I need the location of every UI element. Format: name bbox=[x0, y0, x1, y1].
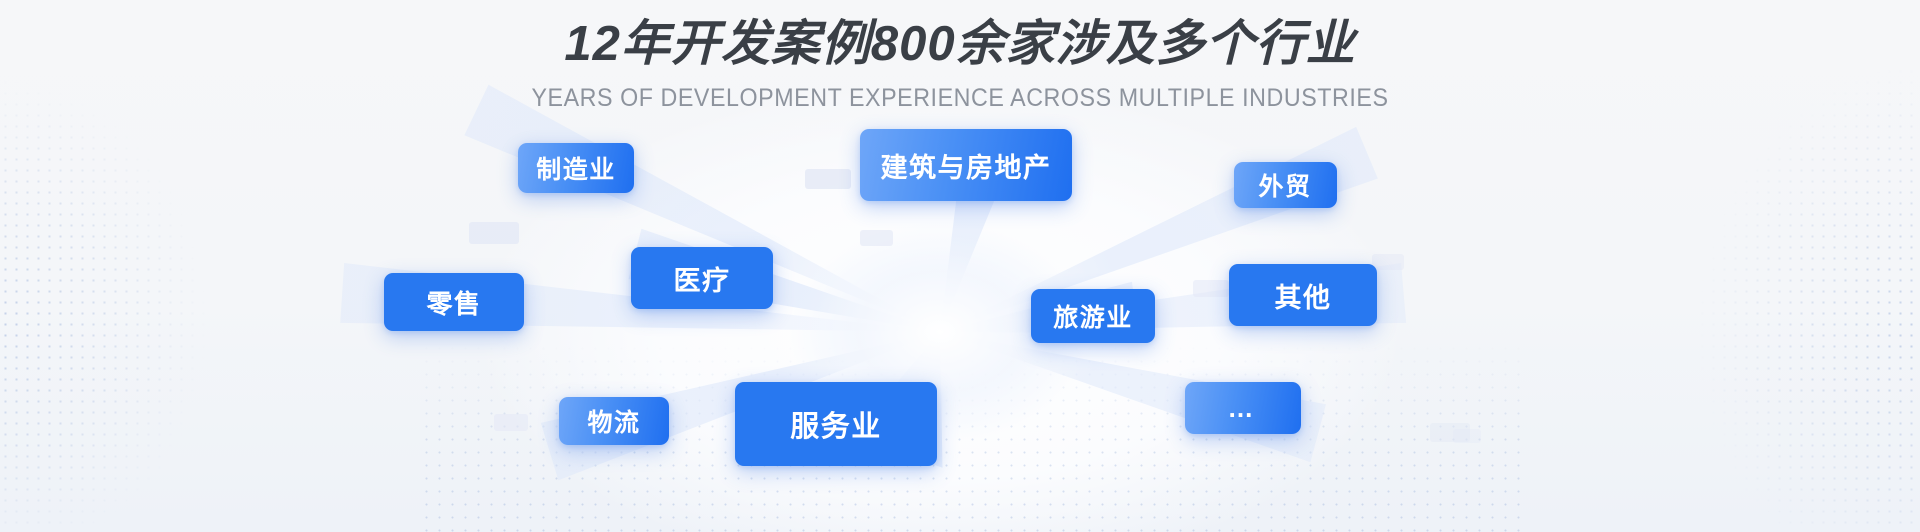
industry-tag-label: … bbox=[1228, 398, 1259, 418]
industry-tag[interactable]: 旅游业 bbox=[1031, 289, 1155, 343]
industry-tag[interactable]: 外贸 bbox=[1234, 162, 1337, 208]
industry-tag[interactable]: 零售 bbox=[384, 273, 524, 331]
decorative-rect bbox=[1453, 429, 1481, 443]
industry-tag[interactable]: 服务业 bbox=[735, 382, 937, 466]
industry-tag-label: 物流 bbox=[587, 403, 640, 439]
industry-tag-label: 服务业 bbox=[790, 403, 882, 445]
industry-tag-label: 零售 bbox=[426, 284, 481, 321]
decorative-rect bbox=[469, 222, 519, 244]
industries-banner: 12年开发案例800余家涉及多个行业 YEARS OF DEVELOPMENT … bbox=[0, 0, 1920, 532]
page-subtitle: YEARS OF DEVELOPMENT EXPERIENCE ACROSS M… bbox=[67, 74, 1853, 113]
decorative-rect bbox=[1193, 280, 1229, 297]
industry-tag[interactable]: 物流 bbox=[559, 397, 669, 445]
industry-tag-label: 医疗 bbox=[674, 259, 731, 298]
industry-tag-label: 旅游业 bbox=[1053, 298, 1133, 334]
industry-tag-label: 外贸 bbox=[1258, 167, 1311, 203]
decorative-rect bbox=[1372, 254, 1404, 270]
industry-tag[interactable]: 其他 bbox=[1229, 264, 1377, 326]
page-title: 12年开发案例800余家涉及多个行业 bbox=[0, 0, 1920, 74]
decorative-rect bbox=[494, 414, 528, 431]
industry-tag-label: 制造业 bbox=[536, 150, 616, 186]
industry-tag[interactable]: 制造业 bbox=[518, 143, 634, 193]
industry-tag[interactable]: 医疗 bbox=[631, 247, 773, 309]
decorative-rect bbox=[860, 230, 893, 246]
banner-header: 12年开发案例800余家涉及多个行业 YEARS OF DEVELOPMENT … bbox=[0, 0, 1920, 113]
industry-tag[interactable]: 建筑与房地产 bbox=[860, 129, 1072, 201]
industry-tag-label: 建筑与房地产 bbox=[881, 146, 1052, 185]
industry-tag-label: 其他 bbox=[1275, 276, 1332, 315]
industry-tag[interactable]: … bbox=[1185, 382, 1301, 434]
decorative-rect bbox=[805, 169, 851, 189]
